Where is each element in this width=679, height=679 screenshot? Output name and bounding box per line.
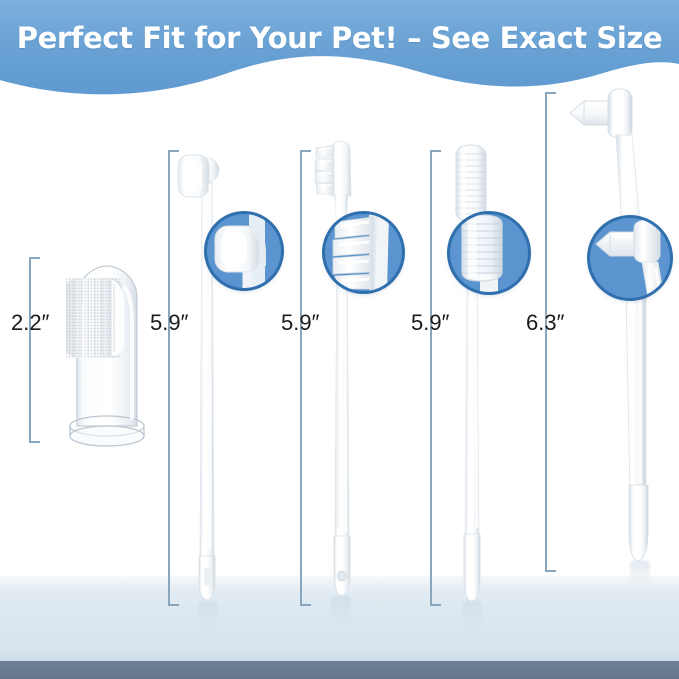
reflection-silicone-head-brush — [199, 601, 217, 627]
product-angled-brush — [560, 85, 670, 577]
magnifier-silicone-head-brush — [207, 214, 281, 288]
product-silicone-head-brush — [176, 138, 242, 616]
reflection-angled-brush — [630, 561, 650, 585]
table-edge — [0, 661, 679, 679]
magnifier-content-cylinder — [450, 214, 528, 292]
measurement-label-angled-brush: 6.3″ — [526, 310, 564, 336]
product-finger-brush — [50, 250, 160, 450]
product-bristle-brush — [310, 140, 376, 616]
magnifier-bristle-brush — [325, 214, 402, 291]
magnifier-content-silicone-head — [207, 214, 281, 288]
measurement-label-finger-brush: 2.2″ — [11, 310, 49, 336]
product-size-infographic: Perfect Fit for Your Pet! – See Exact Si… — [0, 0, 679, 679]
magnifier-angled-brush — [590, 218, 670, 298]
magnifier-content-bristle — [325, 214, 402, 291]
measurement-label-cylinder-brush: 5.9″ — [411, 310, 449, 336]
reflection-bristle-brush — [331, 596, 351, 624]
reflection-cylinder-brush — [463, 600, 482, 626]
magnifier-content-angled — [590, 218, 670, 298]
magnifier-cylinder-brush — [450, 214, 528, 292]
